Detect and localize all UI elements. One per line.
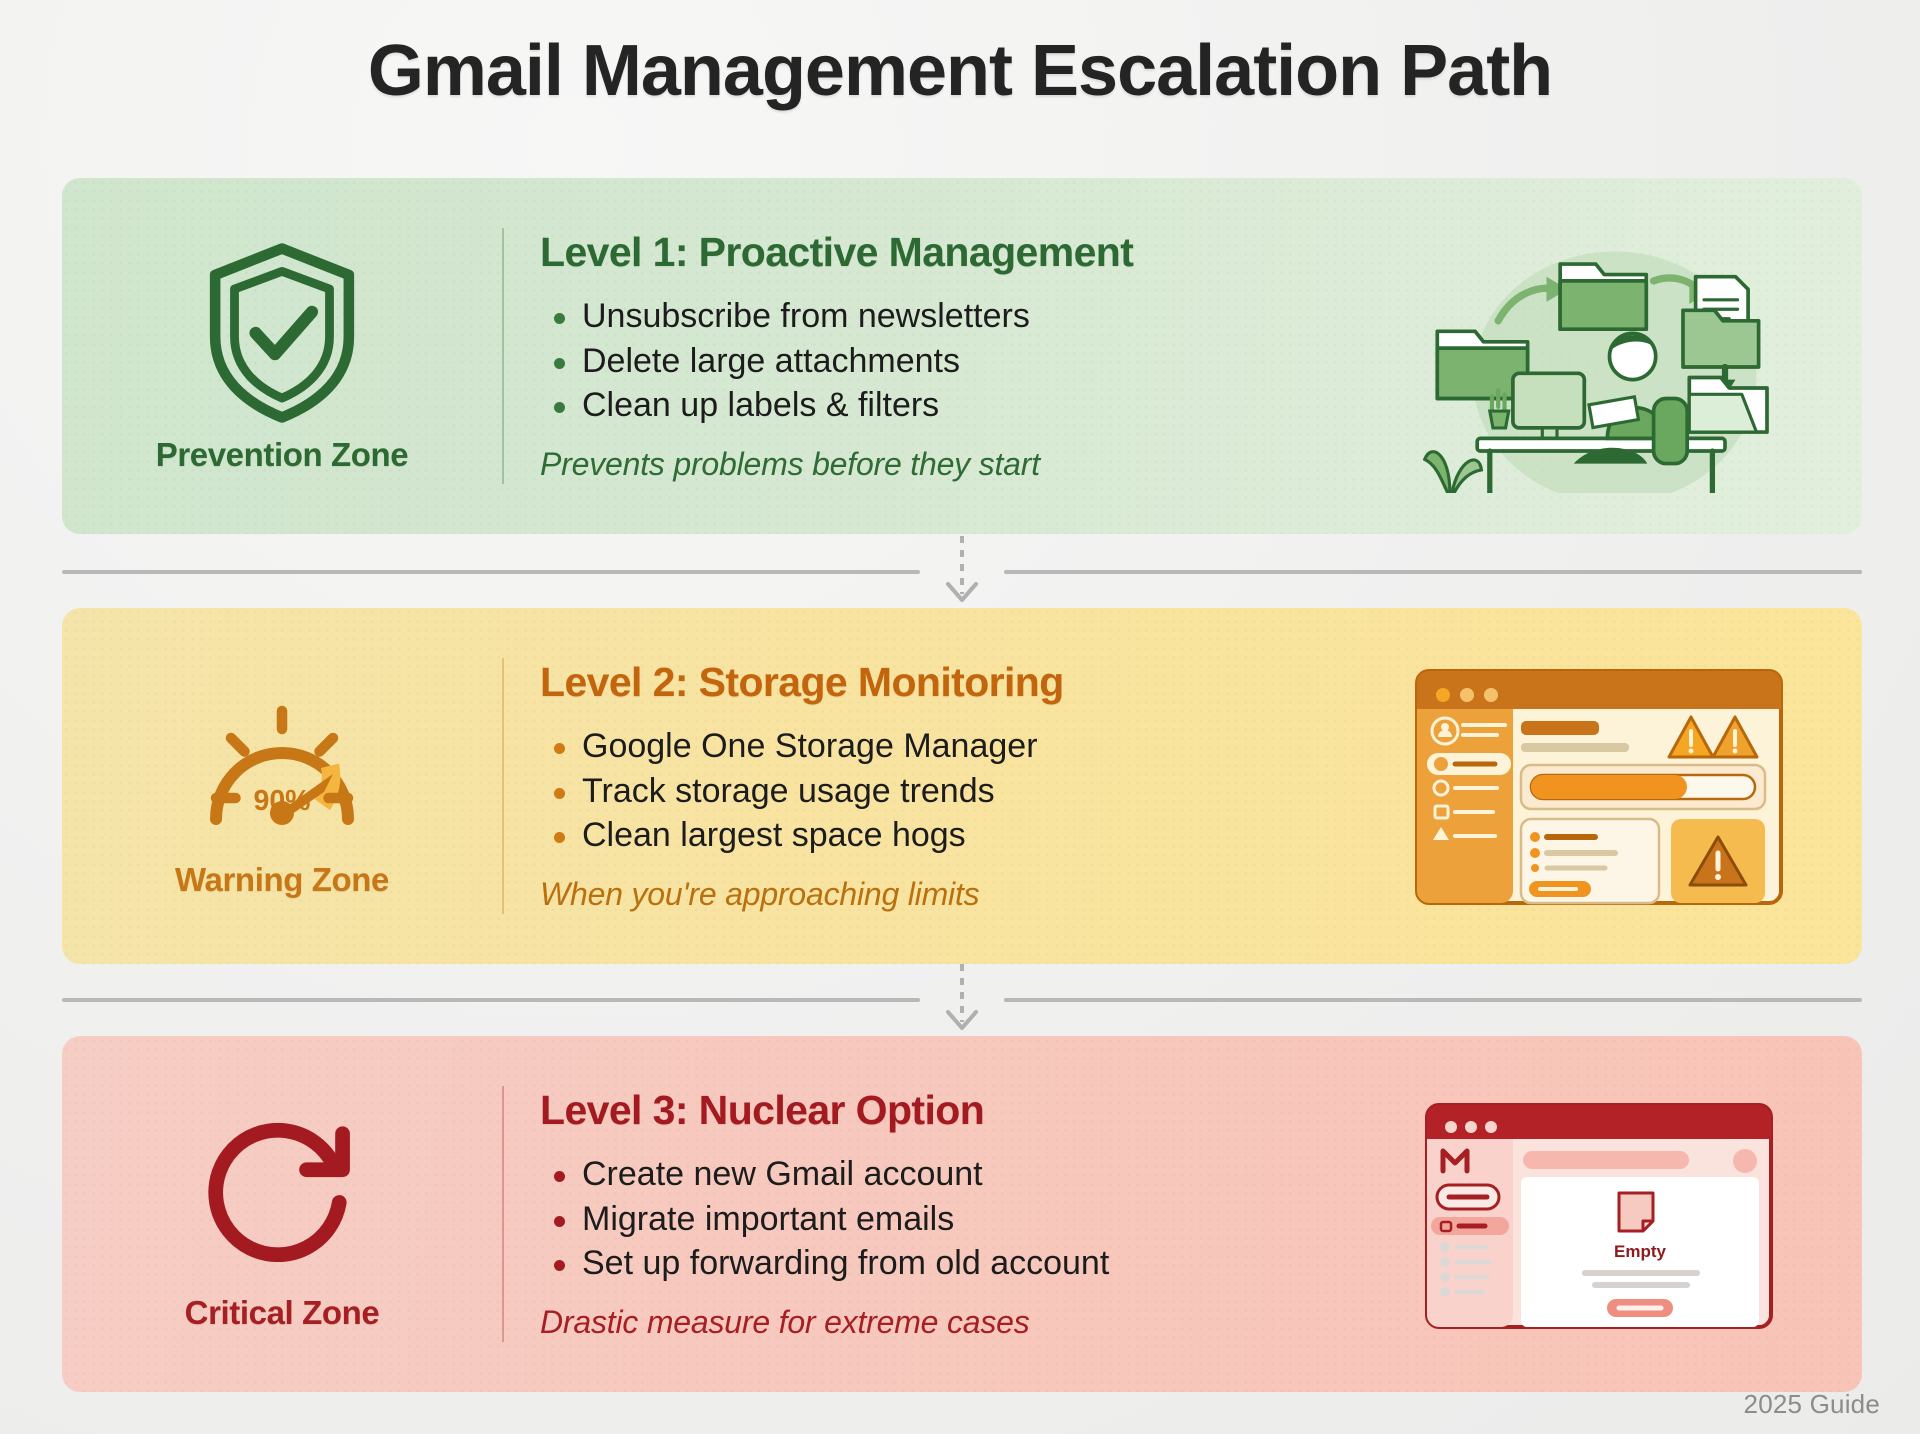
person-at-desk-organizing-folders-illustration — [1364, 178, 1834, 534]
large-plant-icon — [1425, 451, 1482, 492]
critical-zone-block: Critical Zone — [62, 1036, 502, 1392]
level-1-bullet-list: Unsubscribe from newsletters Delete larg… — [540, 294, 1230, 429]
level-2-bullet-list: Google One Storage Manager Track storage… — [540, 724, 1230, 859]
folder-icon — [1560, 264, 1646, 329]
storage-dashboard-svg — [1409, 661, 1789, 911]
panel-divider — [502, 1086, 504, 1342]
connector-line-left — [62, 998, 920, 1002]
level-3-panel: Critical Zone Level 3: Nuclear Option Cr… — [62, 1036, 1862, 1392]
list-item: Delete large attachments — [540, 339, 1230, 384]
storage-dashboard-browser-window-illustration — [1364, 608, 1834, 964]
level-caption: Prevents problems before they start — [540, 446, 1230, 483]
level-caption: When you're approaching limits — [540, 876, 1230, 913]
list-item: Unsubscribe from newsletters — [540, 294, 1230, 339]
level-3-bullet-list: Create new Gmail account Migrate importa… — [540, 1152, 1230, 1287]
connector-line-left — [62, 570, 920, 574]
zone-label: Warning Zone — [175, 861, 389, 899]
chevron-down-icon — [942, 964, 982, 1036]
gauge-value-label: 90% — [253, 785, 310, 817]
infographic-page: Gmail Management Escalation Path Prevent… — [0, 0, 1920, 1434]
panel-divider — [502, 228, 504, 484]
level-caption: Drastic measure for extreme cases — [540, 1304, 1230, 1341]
desk-folders-svg — [1389, 220, 1809, 493]
zone-label: Prevention Zone — [156, 436, 409, 474]
refresh-circle-arrow-icon — [192, 1096, 372, 1286]
level-heading: Level 1: Proactive Management — [540, 229, 1230, 276]
list-item: Set up forwarding from old account — [540, 1241, 1230, 1286]
list-item: Clean largest space hogs — [540, 813, 1230, 858]
connector-level1-to-level2 — [62, 536, 1862, 608]
level-heading: Level 3: Nuclear Option — [540, 1087, 1230, 1134]
page-title: Gmail Management Escalation Path — [0, 30, 1920, 112]
panel-divider — [502, 658, 504, 914]
connector-line-right — [1004, 570, 1862, 574]
footer-note: 2025 Guide — [1744, 1389, 1880, 1420]
level-2-panel: 90% Warning Zone Level 2: Storage Monito… — [62, 608, 1862, 964]
level-heading: Level 2: Storage Monitoring — [540, 659, 1230, 706]
connector-level2-to-level3 — [62, 964, 1862, 1036]
empty-gmail-inbox-window-illustration: Empty — [1364, 1036, 1834, 1392]
chevron-down-icon — [942, 536, 982, 608]
list-item: Clean up labels & filters — [540, 383, 1230, 428]
shield-check-icon — [192, 238, 372, 428]
list-item: Google One Storage Manager — [540, 724, 1230, 769]
connector-line-right — [1004, 998, 1862, 1002]
level-1-content: Level 1: Proactive Management Unsubscrib… — [540, 178, 1230, 534]
gauge-icon: 90% — [192, 683, 372, 853]
warning-zone-block: 90% Warning Zone — [62, 608, 502, 964]
list-item: Track storage usage trends — [540, 769, 1230, 814]
empty-document-icon — [1619, 1193, 1653, 1231]
list-item: Create new Gmail account — [540, 1152, 1230, 1197]
zone-label: Critical Zone — [185, 1294, 380, 1332]
level-2-content: Level 2: Storage Monitoring Google One S… — [540, 608, 1230, 964]
empty-inbox-svg: Empty — [1419, 1089, 1779, 1339]
empty-state-label: Empty — [1614, 1242, 1667, 1261]
level-1-panel: Prevention Zone Level 1: Proactive Manag… — [62, 178, 1862, 534]
list-item: Migrate important emails — [540, 1197, 1230, 1242]
level-3-content: Level 3: Nuclear Option Create new Gmail… — [540, 1036, 1230, 1392]
prevention-zone-block: Prevention Zone — [62, 178, 502, 534]
